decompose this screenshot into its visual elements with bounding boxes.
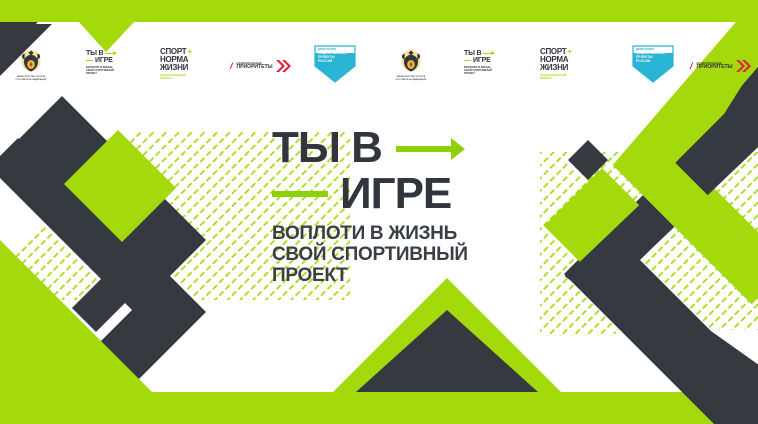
headline-lockup: ТЫ В ИГРЕ ВОПЛОТИ В ЖИЗНЬ СВОЙ СПОРТИВНЫ… — [272, 126, 502, 286]
headline-line2: ИГРЕ — [340, 172, 451, 216]
headline-row-2: ИГРЕ — [272, 172, 502, 216]
headline-tagline: ВОПЛОТИ В ЖИЗНЬ СВОЙ СПОРТИВНЫЙ ПРОЕКТ — [272, 223, 502, 286]
arrow-right-icon — [396, 146, 452, 152]
headline-line1: ТЫ В — [272, 126, 382, 170]
headline-row-1: ТЫ В — [272, 126, 502, 170]
dash-icon — [272, 191, 328, 197]
tagline-line-3: ПРОЕКТ — [272, 265, 502, 286]
tagline-line-2: СВОЙ СПОРТИВНЫЙ — [272, 244, 502, 265]
tagline-line-1: ВОПЛОТИ В ЖИЗНЬ — [272, 223, 502, 244]
promo-banner: МИНИСТЕРСТВО СПОРТА РОССИЙСКОЙ ФЕДЕРАЦИИ… — [0, 0, 758, 424]
